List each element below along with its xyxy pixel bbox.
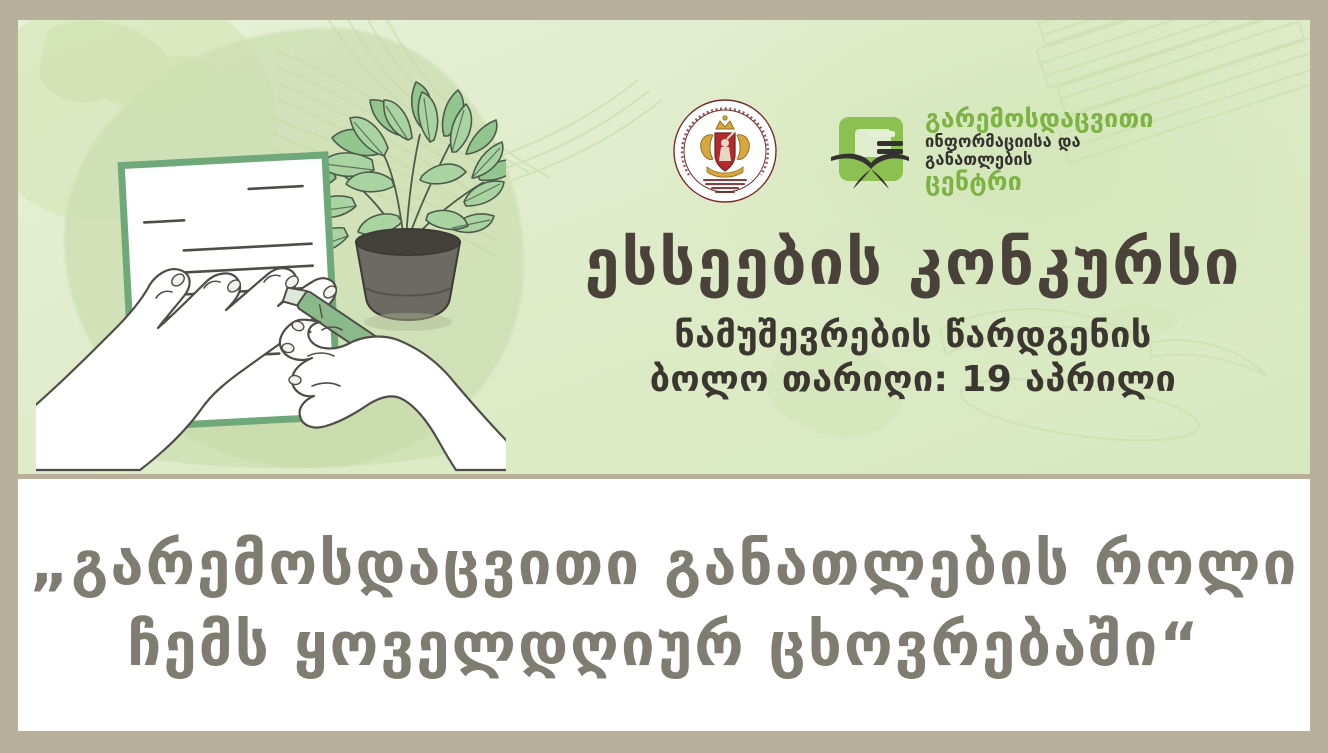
flower-pot <box>356 229 460 331</box>
eiec-logo-line1: გარემოსდაცვითი <box>925 106 1193 132</box>
deadline-line1: ნამუშევრების წარდგენის <box>518 314 1308 358</box>
essay-topic-line2: ჩემს ყოველდღიურ ცხოვრებაში“ <box>127 609 1200 682</box>
green-header-panel: გარემოსდაცვითი ინფორმაციისა და განათლები… <box>18 20 1310 474</box>
ministry-seal-logo <box>673 99 777 203</box>
deadline-block: ნამუშევრების წარდგენის ბოლო თარიღი: 19 ა… <box>518 314 1308 402</box>
logo-row: გარემოსდაცვითი ინფორმაციისა და განათლები… <box>673 98 1193 203</box>
eiec-logo-mark-icon <box>829 109 913 193</box>
eiec-logo-line3: ცენტრი <box>925 169 1193 195</box>
event-title: ესსეების კონკურსი <box>518 230 1308 296</box>
deadline-line2: ბოლო თარიღი: 19 აპრილი <box>518 358 1308 402</box>
eiec-logo-line2: ინფორმაციისა და განათლების <box>925 133 1193 167</box>
illustration-hands-writing <box>36 30 506 474</box>
poster-root: გარემოსდაცვითი ინფორმაციისა და განათლები… <box>0 0 1328 753</box>
essay-topic-line1: „გარემოსდაცვითი განათლების როლი <box>30 528 1299 601</box>
eiec-logo: გარემოსდაცვითი ინფორმაციისა და განათლები… <box>829 106 1193 194</box>
essay-topic-banner: „გარემოსდაცვითი განათლების როლი ჩემს ყოვ… <box>18 479 1310 731</box>
headline-block: ესსეების კონკურსი ნამუშევრების წარდგენის… <box>518 230 1308 402</box>
